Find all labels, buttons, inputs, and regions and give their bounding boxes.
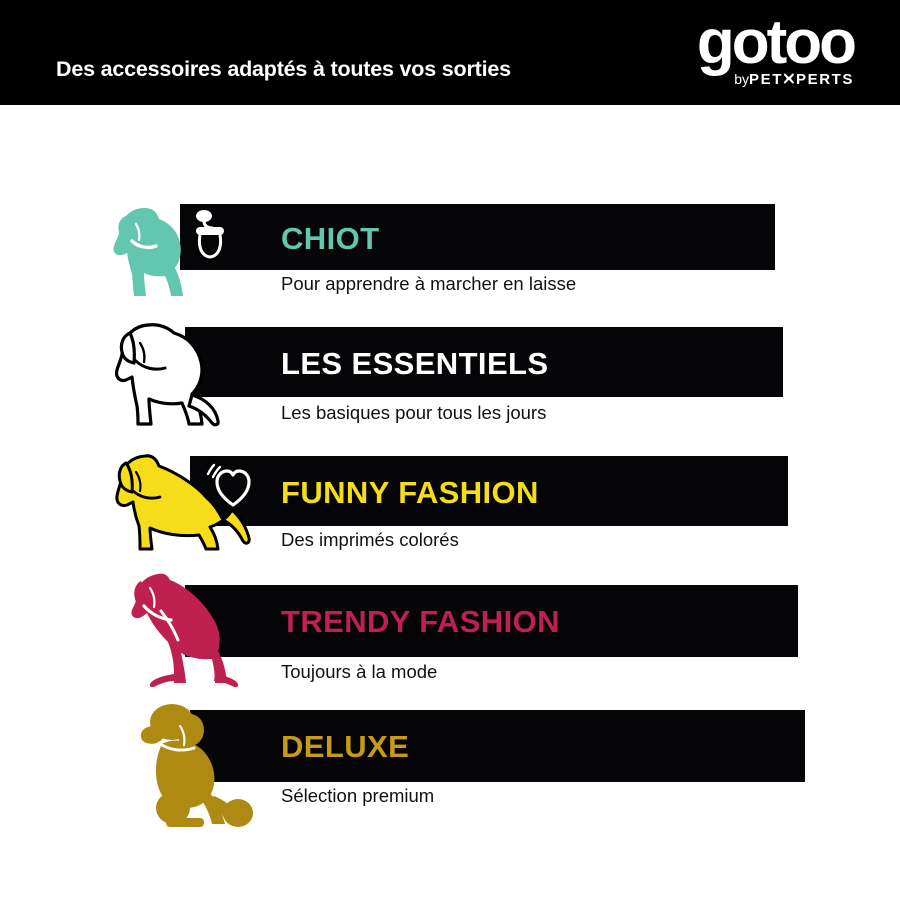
logo-wordmark: gotoo: [664, 12, 854, 74]
pacifier-icon: [186, 206, 234, 264]
logo-brand-left: PET: [749, 71, 783, 88]
category-bar: [180, 204, 775, 270]
category-title: LES ESSENTIELS: [281, 346, 548, 382]
wagging-heart-icon: [205, 462, 257, 508]
category-subtitle: Des imprimés colorés: [281, 529, 459, 551]
category-title: FUNNY FASHION: [281, 475, 539, 511]
category-title: DELUXE: [281, 729, 409, 765]
paw-x-icon: [783, 72, 796, 85]
brand-logo[interactable]: gotoo byPETPERTS: [664, 16, 854, 94]
category-subtitle: Les basiques pour tous les jours: [281, 402, 546, 424]
category-title: TRENDY FASHION: [281, 604, 560, 640]
logo-brand-right: PERTS: [796, 71, 854, 88]
header-banner: Des accessoires adaptés à toutes vos sor…: [0, 0, 900, 105]
category-subtitle: Pour apprendre à marcher en laisse: [281, 273, 576, 295]
poodle-sitting-icon: [132, 700, 266, 832]
page-title: Des accessoires adaptés à toutes vos sor…: [56, 57, 511, 82]
labrador-sitting-outline-icon: [112, 317, 244, 429]
logo-tagline: byPETPERTS: [664, 72, 854, 87]
category-subtitle: Toujours à la mode: [281, 661, 437, 683]
category-subtitle: Sélection premium: [281, 785, 434, 807]
category-title: CHIOT: [281, 221, 379, 257]
pointer-sitting-icon: [128, 568, 256, 688]
logo-by-label: by: [734, 71, 749, 87]
